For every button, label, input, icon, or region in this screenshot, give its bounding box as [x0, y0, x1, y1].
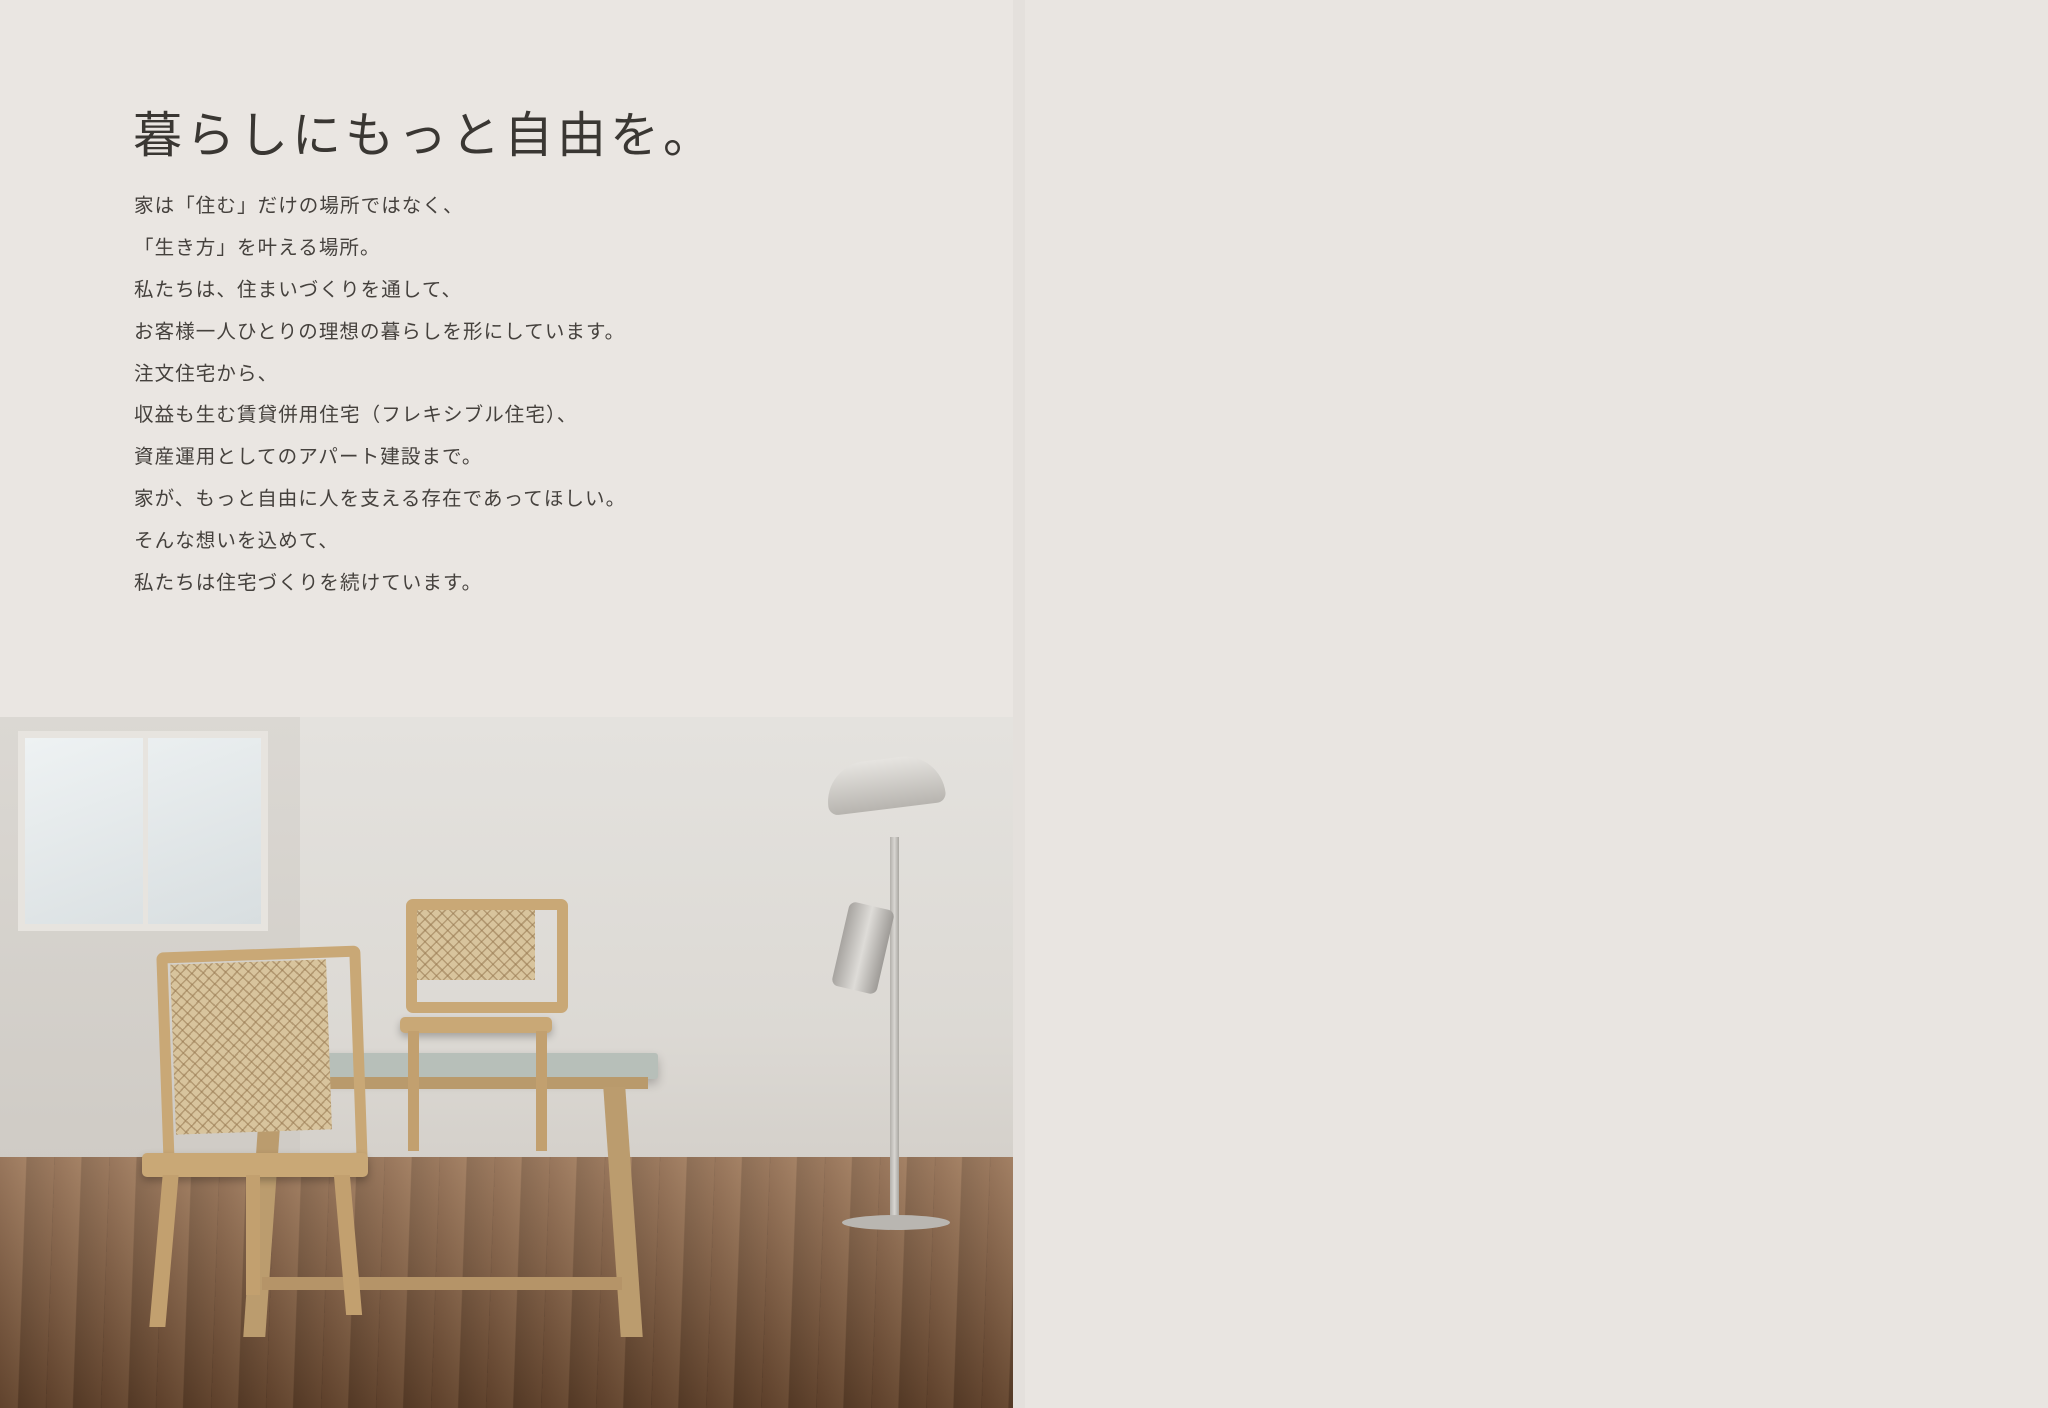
lead-line: 家は「住む」だけの場所ではなく、 [134, 195, 754, 219]
lead-line: 資産運用としてのアパート建設まで。 [134, 446, 754, 470]
lead-line: 注文住宅から、 [134, 363, 754, 387]
lead-paragraph: 家は「住む」だけの場所ではなく、 「生き方」を叶える場所。 私たちは、住まいづく… [134, 195, 754, 614]
window-shape [18, 731, 268, 931]
interior-dining-photo [0, 717, 1013, 1408]
floor-lamp-pole [890, 837, 899, 1217]
lead-line: 収益も生む賃貸併用住宅（フレキシブル住宅）、 [134, 404, 754, 428]
right-page: フレキシブル住宅とは? 「住む」と「貸す」を両立する、 新しい住宅のカタチ。 [1025, 0, 2048, 1408]
page-title: 暮らしにもっと自由を。 [133, 96, 716, 167]
lead-line: 家が、もっと自由に人を支える存在であってほしい。 [134, 488, 754, 512]
lead-line: お客様一人ひとりの理想の暮らしを形にしています。 [134, 321, 754, 345]
lead-line: 私たちは住宅づくりを続けています。 [134, 572, 754, 596]
lead-line: そんな想いを込めて、 [134, 530, 754, 554]
brochure-spread: 暮らしにもっと自由を。 家は「住む」だけの場所ではなく、 「生き方」を叶える場所… [0, 0, 2048, 1408]
lead-line: 私たちは、住まいづくりを通して、 [134, 279, 754, 303]
lead-line: 「生き方」を叶える場所。 [134, 237, 754, 261]
page-gutter [1013, 0, 1025, 1408]
floor-lamp-base [842, 1215, 950, 1230]
left-page: 暮らしにもっと自由を。 家は「住む」だけの場所ではなく、 「生き方」を叶える場所… [0, 0, 1013, 1408]
